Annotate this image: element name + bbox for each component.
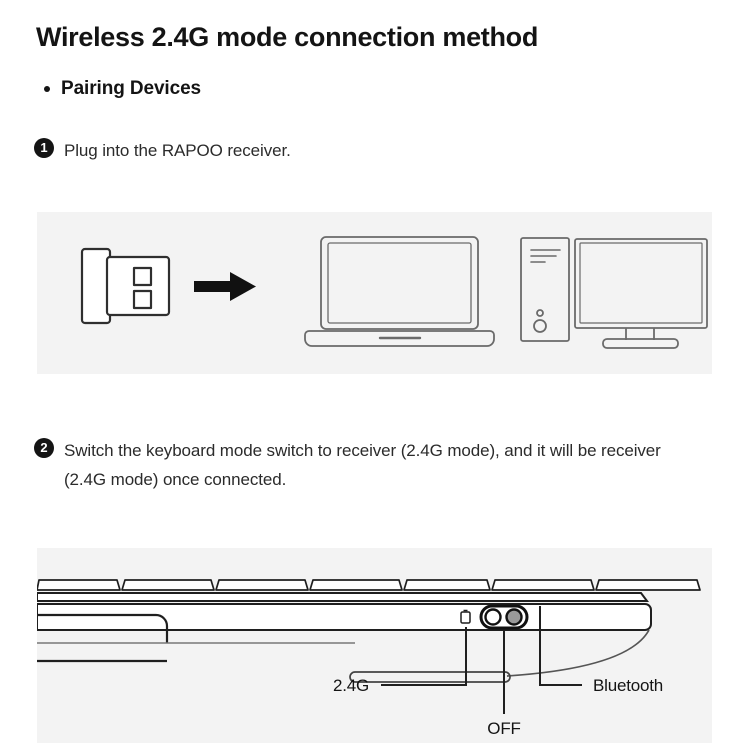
bullet-dot-icon [44, 86, 50, 92]
step-1-number: 1 [34, 138, 54, 158]
keyboard-illustration-panel: 2.4G OFF Bluetooth [37, 548, 712, 743]
monitor-icon [575, 239, 707, 348]
mode-switch-toggle-icon[interactable] [481, 606, 527, 628]
arrow-right-icon [194, 272, 256, 301]
callout-label-2-4g: 2.4G [333, 676, 369, 695]
keyboard-tail-curve [507, 630, 649, 676]
keyboard-foot-ellipse [350, 672, 510, 682]
step-2: 2 Switch the keyboard mode switch to rec… [34, 436, 704, 494]
devices-illustration-panel [37, 212, 712, 374]
desktop-tower-icon [521, 238, 569, 341]
keyboard-top-deck [37, 593, 647, 601]
page-title: Wireless 2.4G mode connection method [36, 22, 538, 53]
devices-illustration-svg [37, 212, 712, 374]
step-1: 1 Plug into the RAPOO receiver. [34, 136, 291, 165]
keyboard-illustration-svg: 2.4G OFF Bluetooth [37, 548, 712, 743]
bullet-label: Pairing Devices [61, 78, 201, 100]
step-1-text: Plug into the RAPOO receiver. [64, 136, 291, 165]
callout-label-bluetooth: Bluetooth [593, 676, 663, 695]
step-2-text: Switch the keyboard mode switch to recei… [64, 436, 704, 494]
step-2-number: 2 [34, 438, 54, 458]
keyboard-keys-row [37, 580, 700, 590]
page-root: Wireless 2.4G mode connection method Pai… [0, 0, 750, 750]
keyboard-body [37, 604, 651, 630]
laptop-icon [305, 237, 494, 346]
usb-dongle-icon [82, 249, 169, 323]
pairing-devices-bullet: Pairing Devices [44, 78, 201, 100]
callout-label-off: OFF [487, 719, 520, 738]
